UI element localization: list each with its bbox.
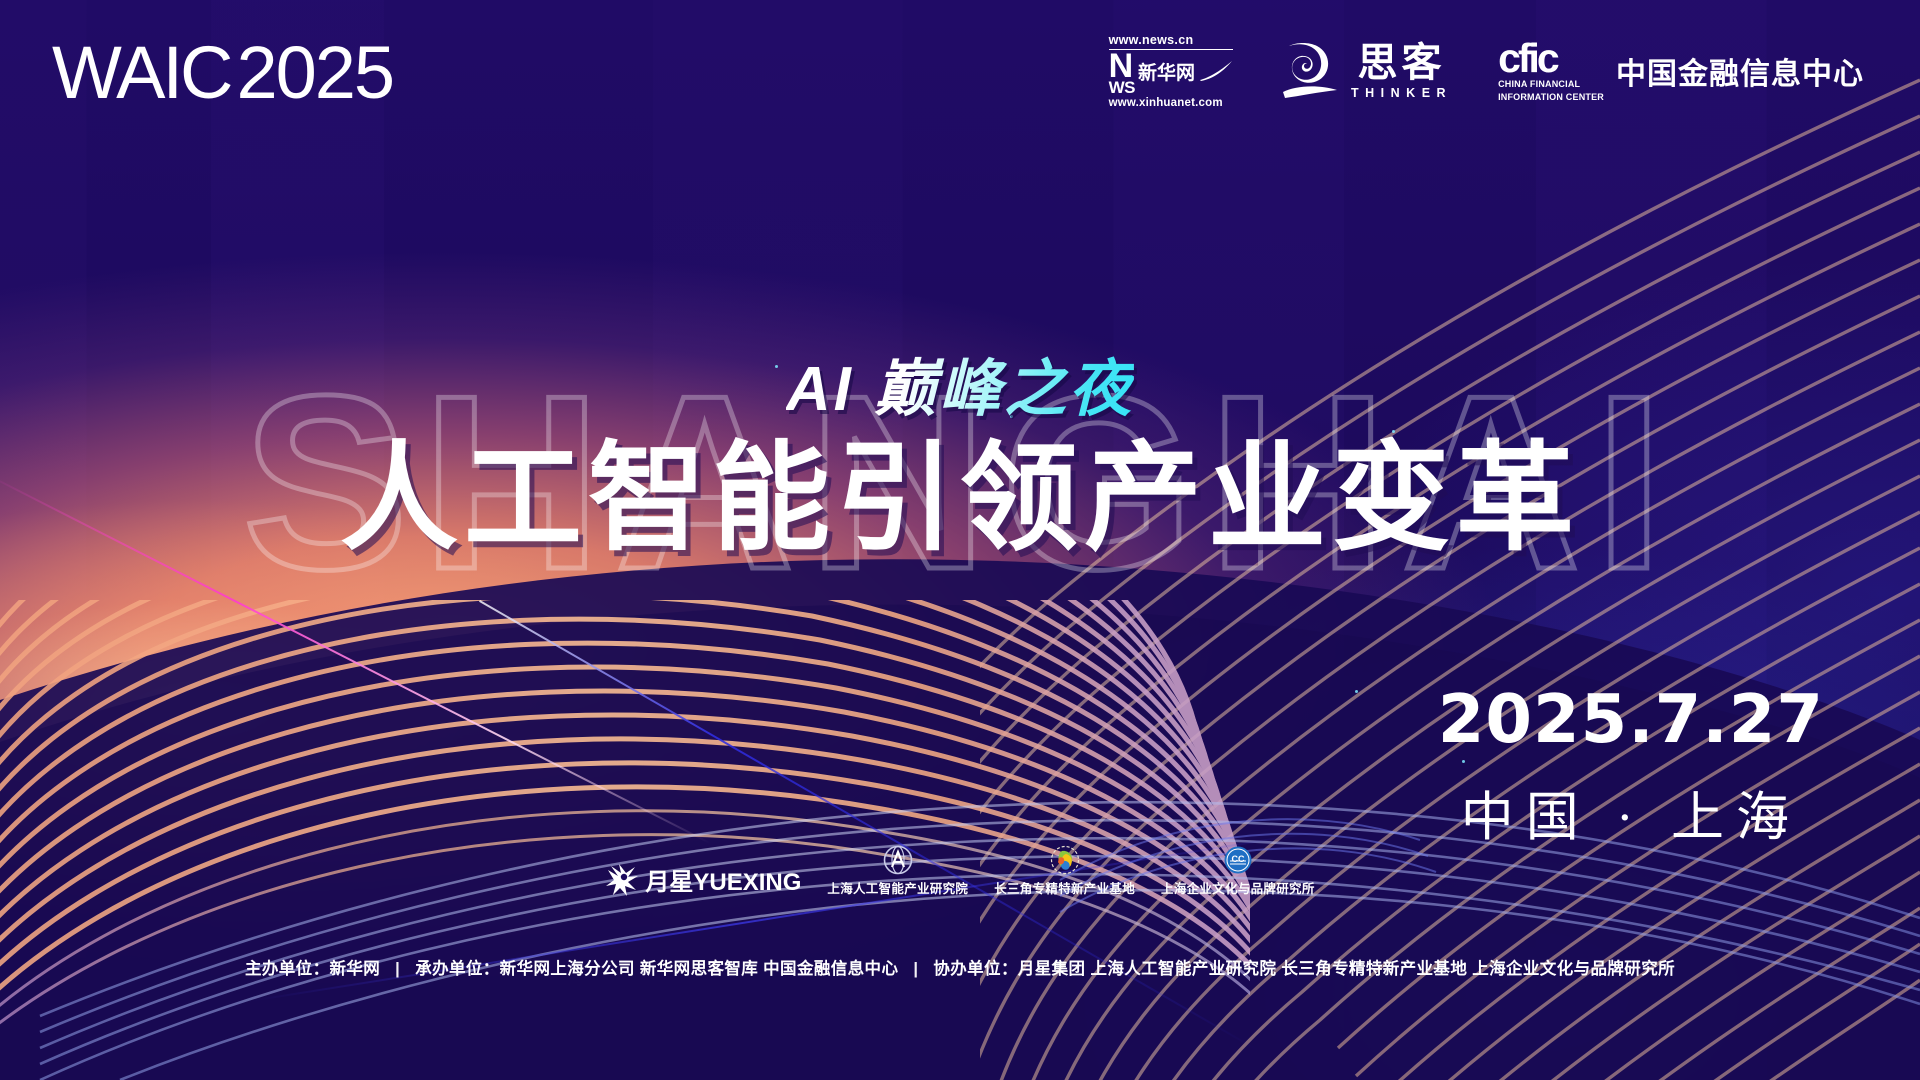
waic-logo: WAIC 2025 [52,36,393,110]
partner-logo-thinker: 思客 THINKER [1279,42,1452,100]
sponsor-name: 上海企业文化与品牌研究所 [1161,878,1315,897]
cfic-subtitle-line1: CHINA FINANCIAL [1498,79,1604,90]
colored-circle-icon [1050,845,1080,875]
xinhuanet-url-bottom: www.xinhuanet.com [1109,97,1223,109]
footer-separator: | [903,960,928,978]
xinhuanet-letter-ws: WS [1109,81,1135,95]
xinhuanet-swoosh-icon [1199,60,1233,87]
thinker-wordmark: 思客 THINKER [1351,43,1452,100]
xinhuanet-name-cn: 新华网 [1138,64,1195,84]
partner-logo-group: www.news.cn N WS 新华网 www.xinhuanet.com [1109,34,1864,109]
sponsor-logo-row: 月星YUEXING 上海人工智能产业研究院 [0,845,1920,897]
seal-circle-icon: CC [1223,845,1253,875]
xinhuanet-url-top: www.news.cn [1109,34,1194,48]
sponsor-yuexing: 月星YUEXING [605,862,801,897]
sponsor-name: 上海人工智能产业研究院 [827,878,968,897]
partner-logo-xinhuanet: www.news.cn N WS 新华网 www.xinhuanet.com [1109,34,1233,109]
svg-text:CC: CC [1231,854,1244,864]
event-date: 2025.7.27 [1438,686,1824,753]
event-subtitle: AI 巅峰之夜 [786,338,1134,428]
sponsor-yangtze-delta-base: 长三角专精特新产业基地 [994,845,1135,897]
xinhuanet-wordmark: N WS 新华网 [1109,52,1233,95]
event-date-location: 2025.7.27 中国 · 上海 [1438,686,1824,851]
footer-credits: 主办单位：新华网 | 承办单位：新华网上海分公司 新华网思客智库 中国金融信息中… [0,955,1920,979]
star-person-icon [605,865,639,895]
footer-coorganizer: 协办单位：月星集团 上海人工智能产业研究院 长三角专精特新产业基地 上海企业文化… [933,960,1675,978]
footer-host: 主办单位：新华网 [245,960,380,978]
partner-logo-cfic: cfic CHINA FINANCIAL INFORMATION CENTER … [1498,40,1864,102]
cfic-wordmark: cfic CHINA FINANCIAL INFORMATION CENTER [1498,40,1604,102]
cfic-letters: cfic [1498,40,1604,77]
cfic-name-cn: 中国金融信息中心 [1616,49,1864,93]
event-headline: 人工智能引领产业变革 [340,440,1580,558]
thinker-name-cn: 思客 [1358,43,1446,83]
sponsor-name: 月星YUEXING [645,862,801,897]
waic-logo-year: 2025 [236,36,393,110]
xinhuanet-letter-n: N [1109,52,1135,81]
sponsor-shanghai-brand-institute: CC 上海企业文化与品牌研究所 [1161,845,1315,897]
footer-organizer: 承办单位：新华网上海分公司 新华网思客智库 中国金融信息中心 [415,960,898,978]
poster-header: WAIC 2025 www.news.cn N WS 新华网 [0,0,1920,140]
footer-separator: | [385,960,410,978]
cfic-subtitle-line2: INFORMATION CENTER [1498,92,1604,103]
thinker-brush-icon [1279,42,1341,100]
spark-dot [1355,690,1358,693]
xinhuanet-letters: N WS [1109,52,1135,95]
event-poster: SHANGHAI WAIC 2025 www.news.cn N WS 新华网 [0,0,1920,1080]
globe-a-icon [883,845,913,875]
sponsor-name: 长三角专精特新产业基地 [994,878,1135,897]
waic-logo-text: WAIC [52,36,230,110]
thinker-name-en: THINKER [1351,86,1452,100]
event-location: 中国 · 上海 [1438,775,1824,851]
sponsor-shanghai-ai-institute: 上海人工智能产业研究院 [827,845,968,897]
